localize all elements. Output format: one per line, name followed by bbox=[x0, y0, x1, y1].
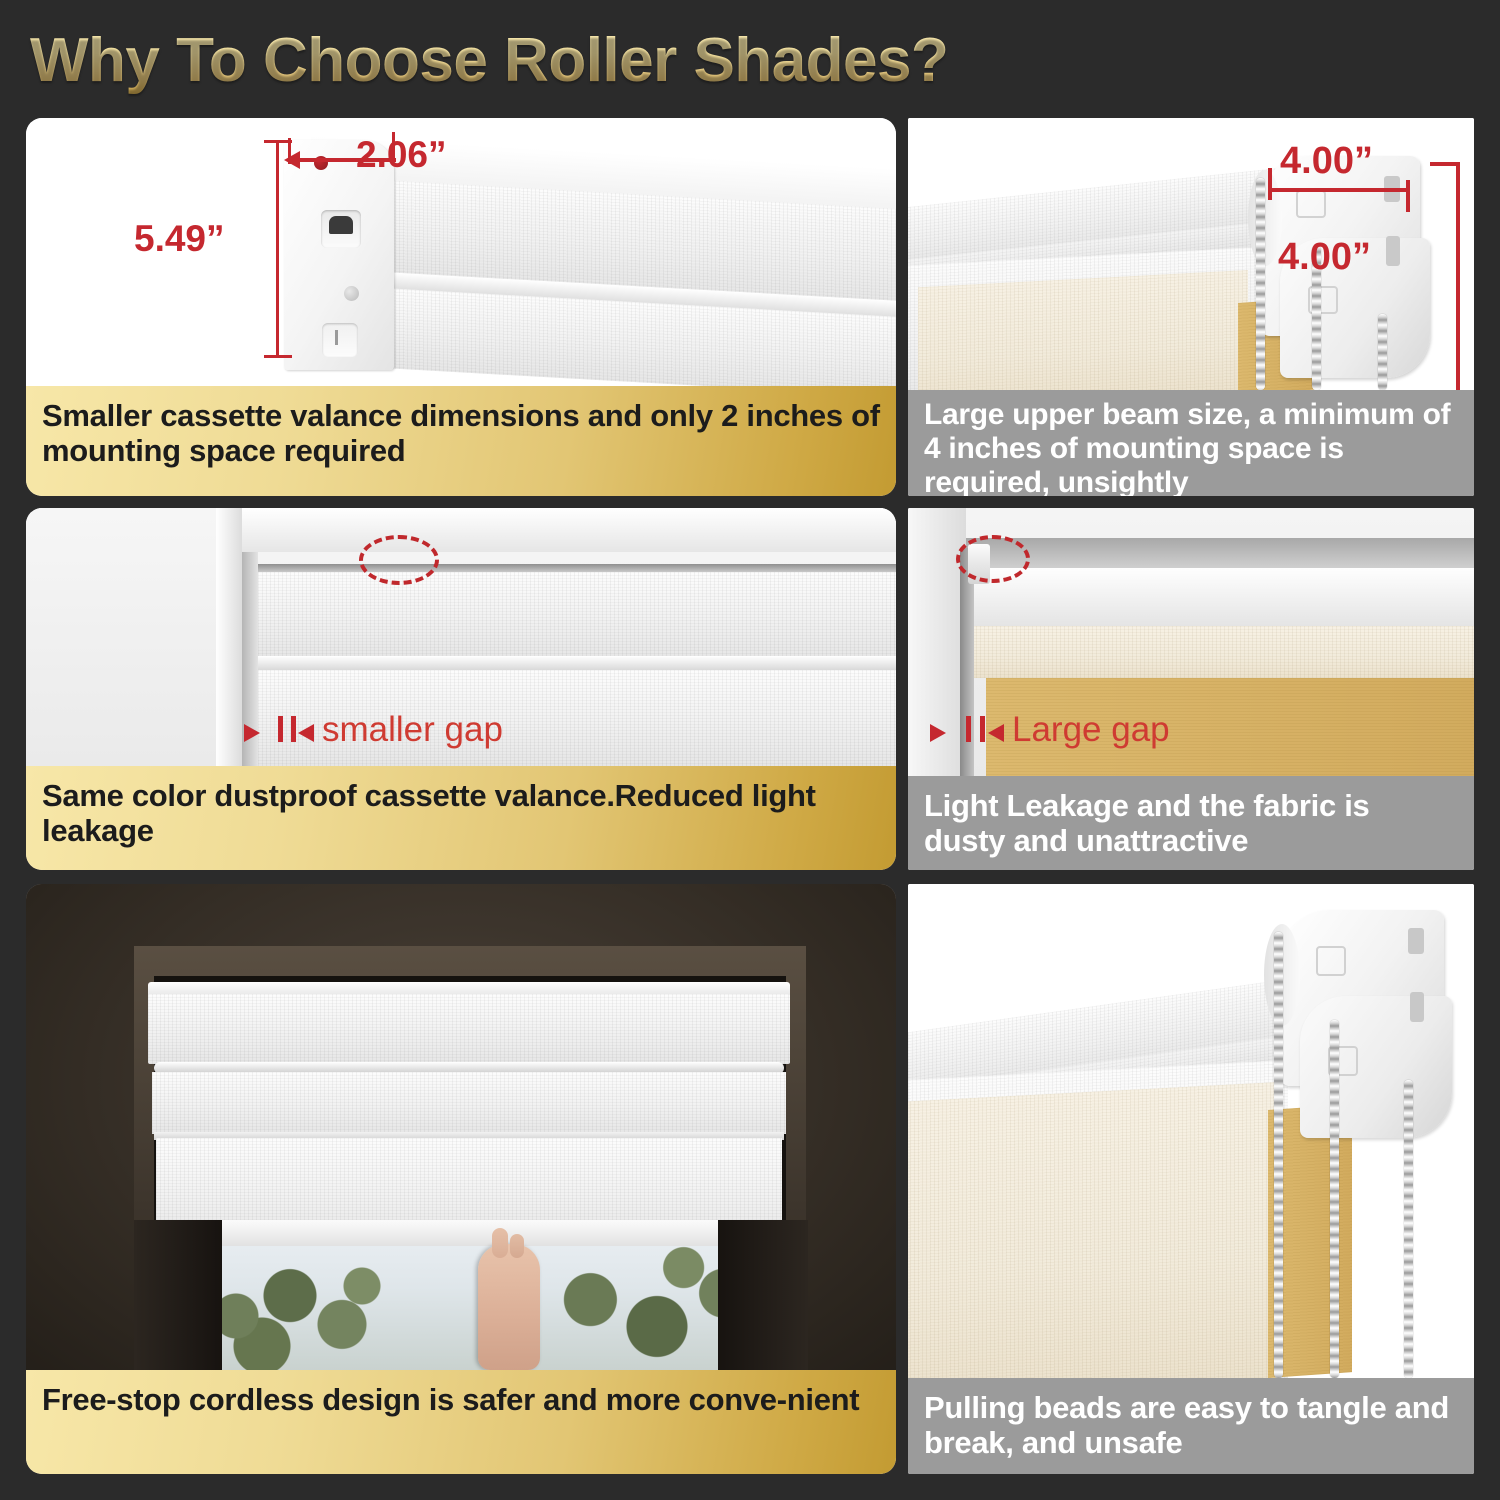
cream-shade-fabric bbox=[908, 1082, 1278, 1378]
width-dimension-label: 2.06” bbox=[356, 134, 447, 176]
large-beam-photo: 4.00” 4.00” bbox=[908, 118, 1474, 390]
shade-body bbox=[156, 1138, 782, 1376]
height-dimension-label: 5.49” bbox=[134, 218, 225, 260]
gap-callout-label: smaller gap bbox=[322, 710, 503, 750]
gap-callout-label: Large gap bbox=[1012, 710, 1170, 750]
comparison-grid: 2.06” 5.49” Smaller cassette valance dim… bbox=[0, 0, 1500, 1500]
panel-top-left: 2.06” 5.49” Smaller cassette valance dim… bbox=[26, 118, 896, 496]
panel-middle-left: smaller gap Same color dustproof cassett… bbox=[26, 508, 896, 870]
width-dimension-arrow-left bbox=[284, 151, 300, 169]
beam-height-dimension-label: 4.00” bbox=[1278, 236, 1371, 279]
dusty-fabric bbox=[968, 626, 1474, 678]
beam-height-dimension-line bbox=[1456, 162, 1460, 390]
caption-top-left: Smaller cassette valance dimensions and … bbox=[26, 386, 896, 496]
gap-highlight-ellipse bbox=[956, 535, 1030, 583]
beam-width-dimension-line bbox=[1270, 188, 1410, 192]
gap-arrow-left bbox=[930, 724, 946, 742]
panel-middle-right: Large gap Light Leakage and the fabric i… bbox=[908, 508, 1474, 870]
cream-shade-fabric bbox=[918, 270, 1248, 390]
cassette-valance-photo: 2.06” 5.49” bbox=[26, 118, 896, 386]
beam-width-dimension-label: 4.00” bbox=[1280, 140, 1373, 183]
bead-chain-right bbox=[1404, 1080, 1413, 1378]
caption-middle-right: Light Leakage and the fabric is dusty an… bbox=[908, 776, 1474, 870]
cordless-shade-room-photo bbox=[26, 884, 896, 1376]
caption-middle-left: Same color dustproof cassette valance.Re… bbox=[26, 766, 896, 870]
gap-arrow-left bbox=[244, 724, 260, 742]
bead-chain-right bbox=[1378, 314, 1387, 390]
caption-bottom-right: Pulling beads are easy to tangle and bre… bbox=[908, 1378, 1474, 1474]
gap-arrow-right bbox=[988, 724, 1004, 742]
dustproof-valance-photo: smaller gap bbox=[26, 508, 896, 766]
bead-chain-middle bbox=[1330, 1020, 1339, 1378]
height-dimension-line bbox=[276, 140, 279, 358]
gap-highlight-ellipse bbox=[359, 535, 439, 585]
caption-bottom-left: Free-stop cordless design is safer and m… bbox=[26, 1370, 896, 1474]
gap-arrow-right bbox=[298, 724, 314, 742]
bead-chain-left bbox=[1256, 178, 1265, 390]
panel-bottom-left: Free-stop cordless design is safer and m… bbox=[26, 884, 896, 1474]
bead-chain-left bbox=[1274, 932, 1283, 1378]
panel-bottom-right: Pulling beads are easy to tangle and bre… bbox=[908, 884, 1474, 1474]
panel-top-right: 4.00” 4.00” Large upper beam size, a min… bbox=[908, 118, 1474, 496]
light-leak-photo: Large gap bbox=[908, 508, 1474, 776]
shade-fabric bbox=[254, 572, 896, 658]
caption-top-right: Large upper beam size, a minimum of 4 in… bbox=[908, 390, 1474, 496]
bead-chain-photo bbox=[908, 884, 1474, 1378]
valance-front bbox=[148, 994, 790, 1064]
